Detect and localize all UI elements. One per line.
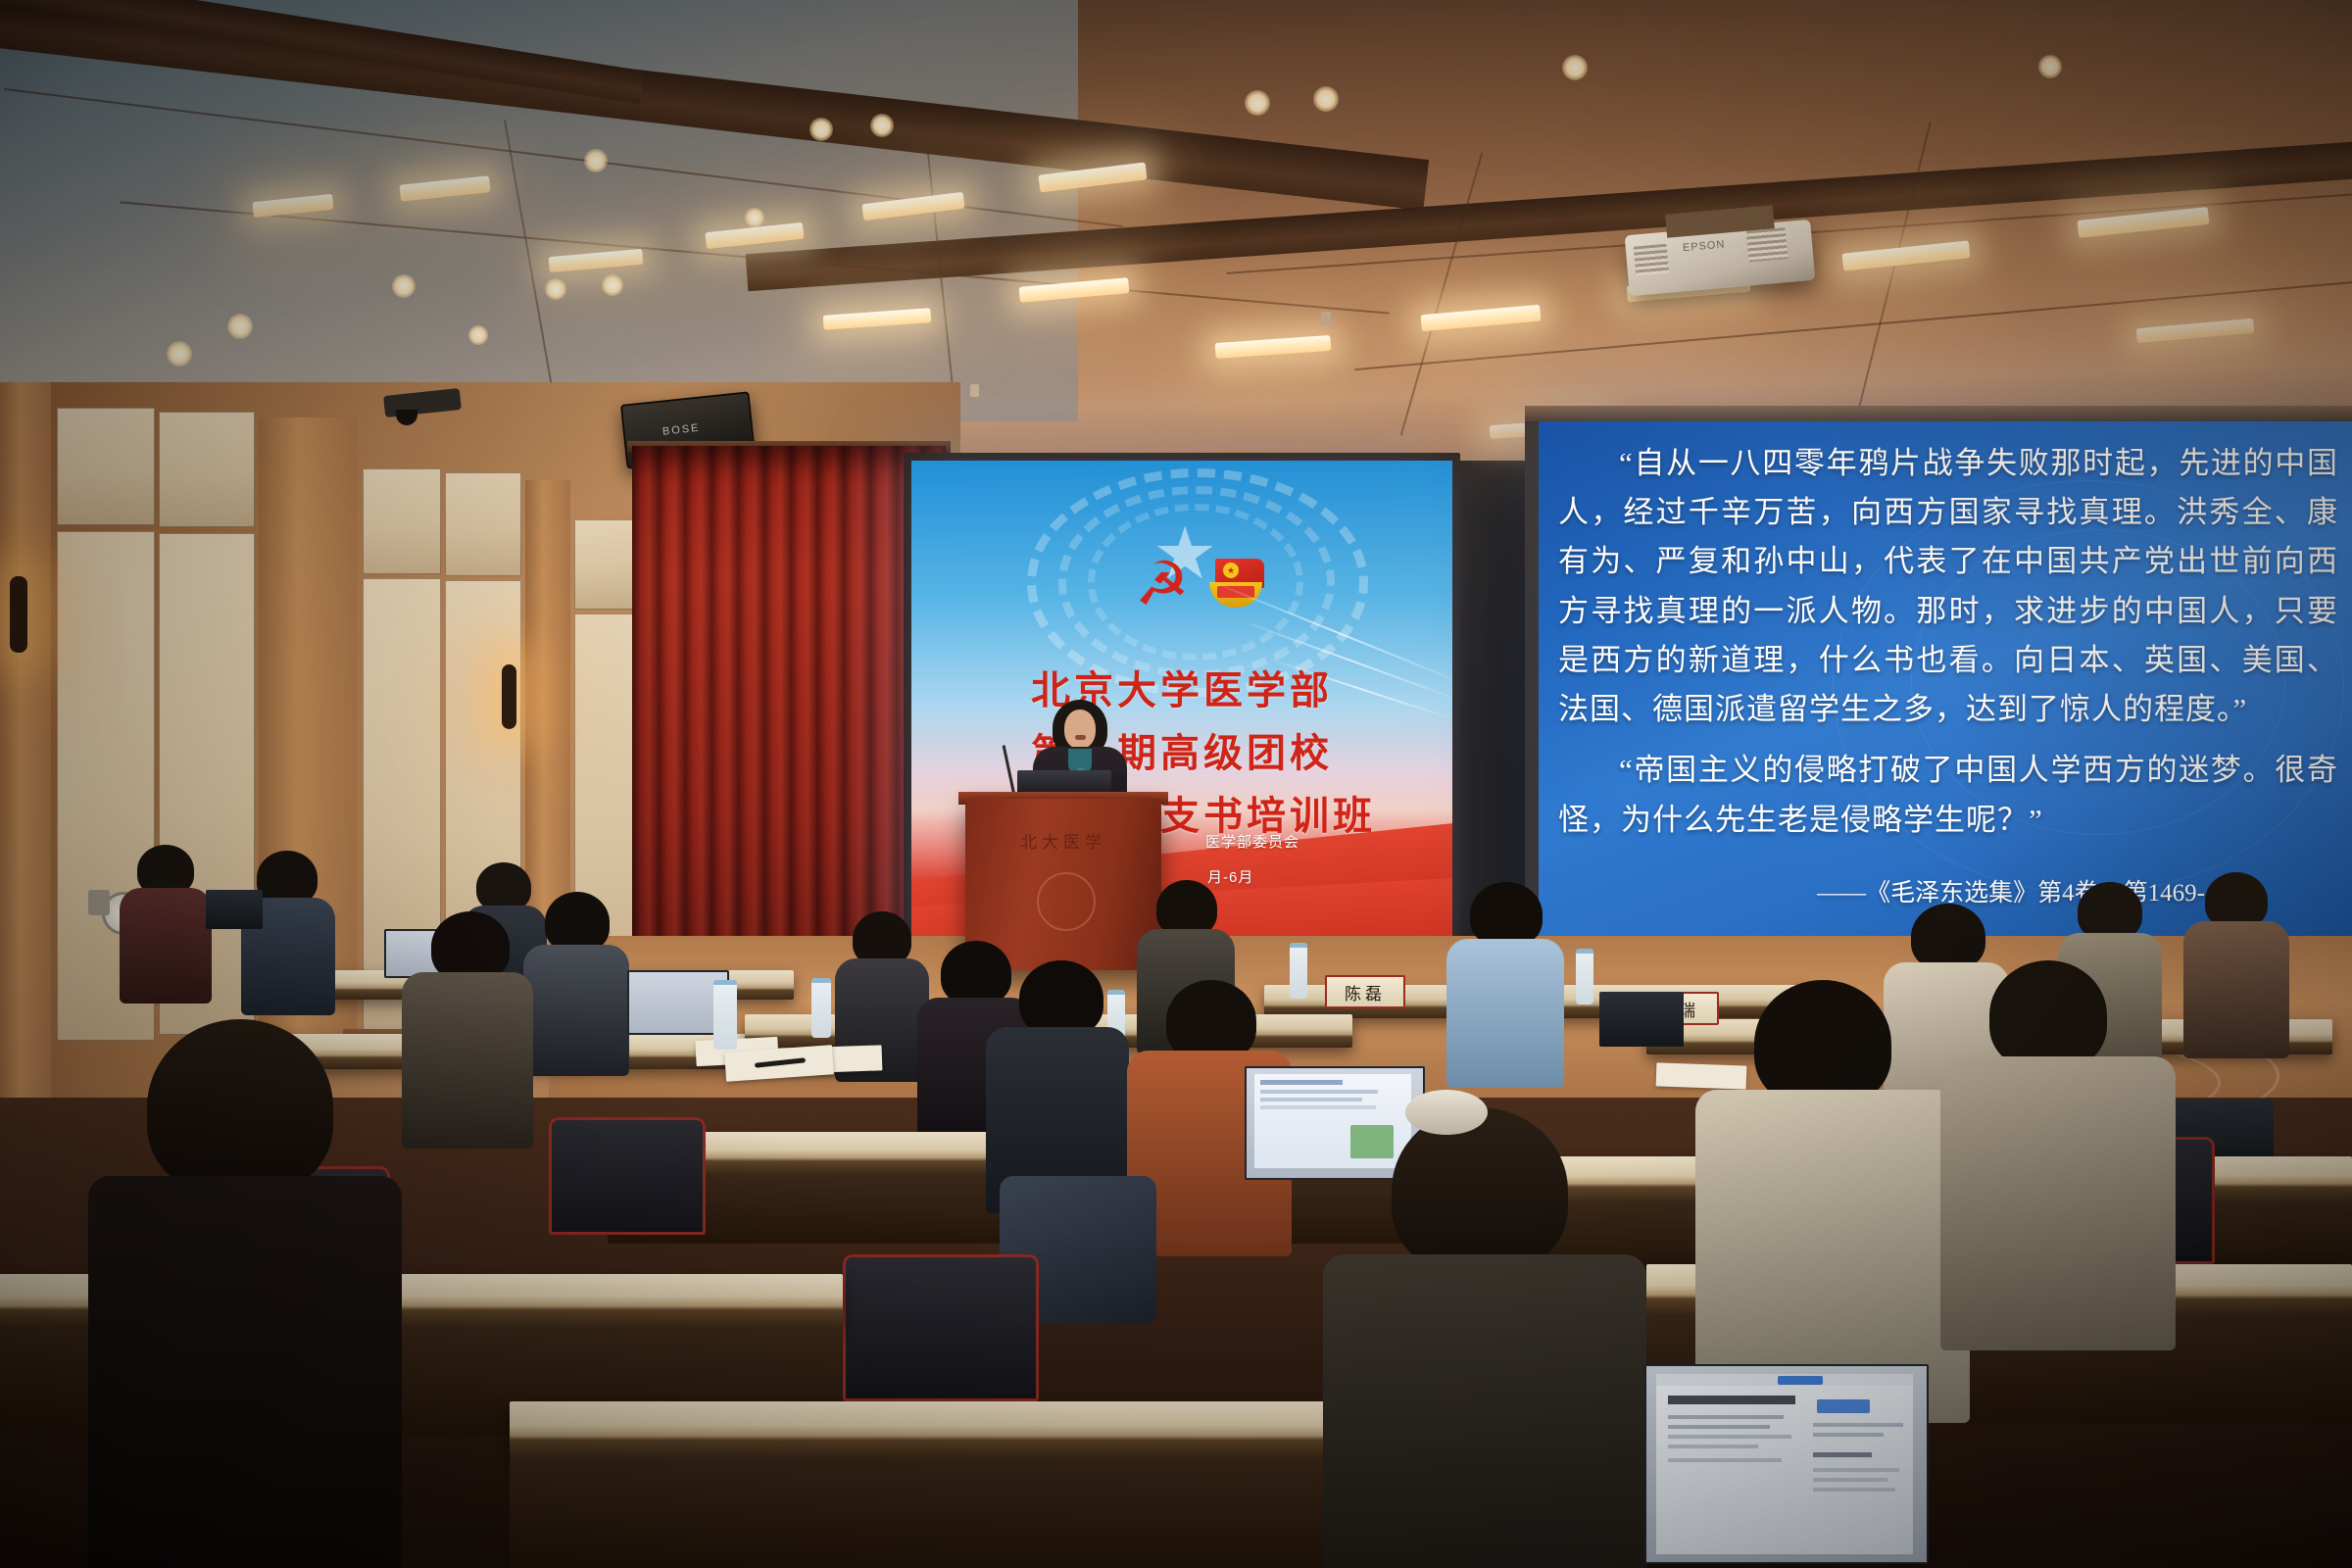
wall-post — [0, 382, 51, 1098]
ceiling-downlight — [2038, 55, 2062, 78]
audience-hair — [2078, 882, 2142, 941]
podium-label: 北大医学 — [990, 828, 1137, 853]
audience-torso — [120, 888, 212, 1004]
audience-hair — [1911, 904, 1985, 970]
audience-torso — [2183, 921, 2289, 1058]
audience-torso — [523, 945, 629, 1076]
quote-text-block: “自从一八四零年鸦片战争失败那时起，先进的中国人，经过千辛万苦，向西方国家寻找真… — [1558, 439, 2338, 857]
ceiling-downlight — [870, 114, 894, 137]
quote-paragraph-2: “帝国主义的侵略打破了中国人学西方的迷梦。很奇怪，为什么先生老是侵略学生呢？” — [1558, 746, 2338, 844]
ceiling-downlight — [745, 208, 764, 227]
ceiling-downlight — [227, 314, 253, 339]
laptop — [1599, 992, 1684, 1047]
paper-sheet — [1656, 1062, 1747, 1089]
sprinkler-icon — [970, 384, 979, 397]
audience-torso — [1446, 939, 1564, 1088]
audience-hair — [476, 862, 531, 911]
ceiling-light — [1420, 305, 1541, 332]
audience-torso — [88, 1176, 402, 1568]
audience-hair — [147, 1019, 333, 1196]
wall-panel — [363, 468, 441, 574]
ceiling-downlight — [392, 274, 416, 298]
quote-citation: ——《毛泽东选集》第4卷，第1469- — [1817, 873, 2205, 908]
audience-hair — [1754, 980, 1891, 1107]
water-bottle — [1576, 949, 1593, 1004]
hammer-sickle-icon: ☭ — [1135, 555, 1190, 615]
wall-panel — [57, 408, 155, 525]
ceiling-seam — [1853, 122, 1931, 427]
wall-sconce — [502, 664, 516, 729]
ceiling-downlight — [584, 149, 608, 172]
slide-subtitle-line-1: 医学部委员会 — [1205, 831, 1299, 852]
hair-scrunchie — [1405, 1090, 1488, 1135]
laptop — [206, 890, 263, 929]
slide-title-line-2: 第十期高级团校 — [911, 721, 1452, 778]
audience-hair — [1019, 960, 1103, 1037]
ceiling-downlight — [167, 341, 192, 367]
audience-torso — [1323, 1254, 1646, 1568]
projector-brand-label: EPSON — [1682, 239, 1725, 255]
presenter-mouth — [1075, 735, 1086, 740]
speaker-brand-label: BOSE — [661, 422, 701, 438]
laptop-screen-content — [1254, 1074, 1411, 1168]
ceiling-downlight — [1313, 86, 1339, 112]
ceiling-downlight — [1245, 90, 1270, 116]
ceiling-light — [1215, 335, 1332, 359]
sprinkler-icon — [1321, 312, 1331, 325]
slide-title-line-1: 北京大学医学部 — [911, 659, 1452, 715]
right-screen-top-trim — [1525, 406, 2352, 421]
audience-torso — [1940, 1056, 2176, 1350]
audience-hair — [941, 941, 1011, 1005]
youth-league-badge-icon: ★ — [1205, 559, 1266, 613]
ceiling-light — [1841, 240, 1970, 270]
water-bottle — [713, 980, 737, 1050]
presenter-head — [1064, 710, 1096, 749]
water-bottle — [811, 978, 831, 1038]
ceiling-light — [2136, 318, 2255, 343]
chair — [549, 1117, 706, 1235]
audience-hair — [1392, 1107, 1568, 1274]
ceiling-downlight — [468, 325, 488, 345]
name-placard: 陈磊 — [1325, 975, 1405, 1008]
quote-paragraph-1: “自从一八四零年鸦片战争失败那时起，先进的中国人，经过千辛万苦，向西方国家寻找真… — [1558, 439, 2338, 734]
wall-panel — [445, 472, 521, 576]
projector-vent — [1634, 244, 1669, 276]
wall-sconce — [10, 576, 27, 653]
chair — [843, 1254, 1039, 1401]
audience-torso — [402, 972, 533, 1149]
laptop-foreground-screen — [1656, 1374, 1913, 1554]
ceiling-downlight — [545, 278, 566, 300]
audience-hair — [1989, 960, 2107, 1070]
audience-hair — [545, 892, 610, 953]
audience-hair — [1470, 882, 1543, 947]
ceiling-downlight — [602, 274, 623, 296]
ceiling-downlight — [1562, 55, 1588, 80]
slide-subtitle-line-2: 月-6月 — [1207, 866, 1253, 887]
ceiling-downlight — [809, 118, 833, 141]
lecture-hall-photo: EPSON BOSE — [0, 0, 2352, 1568]
wall-clock-bracket — [88, 890, 110, 915]
projector-vent — [1746, 227, 1788, 262]
wall-panel — [159, 412, 255, 527]
podium-seal — [1037, 872, 1096, 931]
water-bottle — [1290, 943, 1307, 999]
